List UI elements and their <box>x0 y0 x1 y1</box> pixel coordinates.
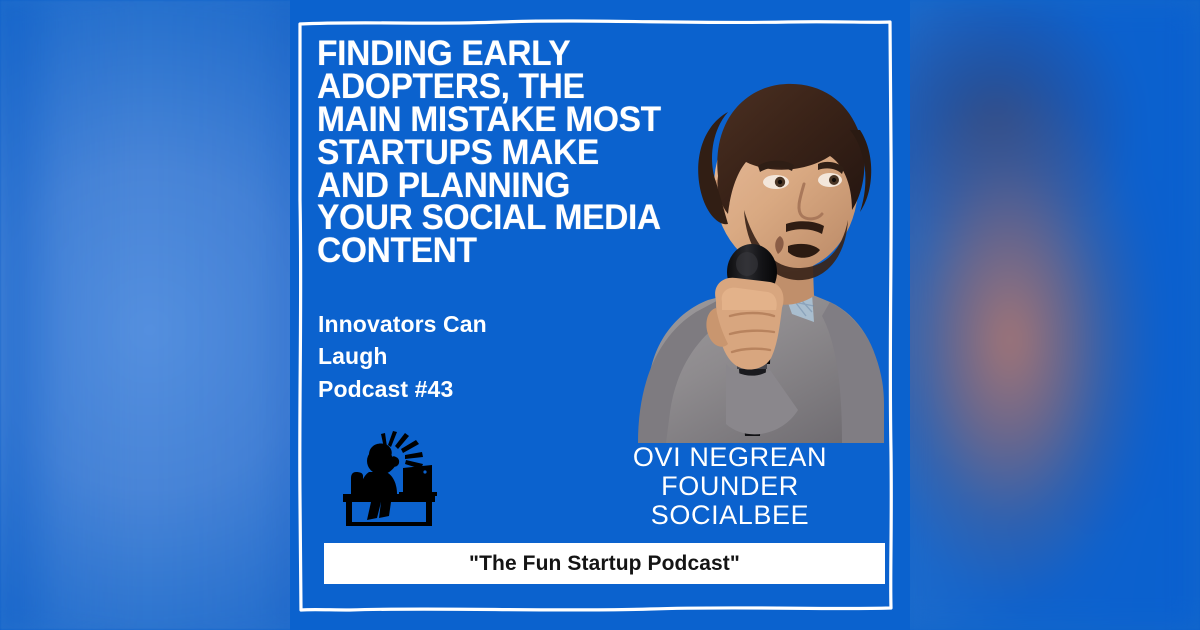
title-line: STARTUPS MAKE <box>317 137 720 170</box>
show-name-line-2: Laugh <box>318 340 568 372</box>
podcast-cover-image: FINDING EARLY ADOPTERS, THE MAIN MISTAKE… <box>0 0 1200 630</box>
show-name-line-1: Innovators Can <box>318 308 568 340</box>
episode-title: FINDING EARLY ADOPTERS, THE MAIN MISTAKE… <box>317 38 720 268</box>
cover-card: FINDING EARLY ADOPTERS, THE MAIN MISTAKE… <box>290 0 910 630</box>
tagline-text: "The Fun Startup Podcast" <box>469 552 740 576</box>
title-line: ADOPTERS, THE <box>317 71 720 104</box>
guest-name: OVI NEGREAN <box>580 443 880 472</box>
guest-company: SOCIALBEE <box>580 501 880 530</box>
guest-credit: OVI NEGREAN FOUNDER SOCIALBEE <box>580 443 880 530</box>
title-line: CONTENT <box>317 235 720 268</box>
blurred-background-left-vignette <box>0 0 300 630</box>
title-line: MAIN MISTAKE MOST <box>317 104 720 137</box>
guest-role: FOUNDER <box>580 472 880 501</box>
blurred-background-right <box>900 0 1200 630</box>
title-line: FINDING EARLY <box>317 38 720 71</box>
person-laughing-at-desk-with-laptop-icon <box>333 428 445 528</box>
episode-number-label: Podcast #43 <box>318 373 568 405</box>
show-info: Innovators Can Laugh Podcast #43 <box>318 308 568 405</box>
tagline-banner: "The Fun Startup Podcast" <box>324 543 885 584</box>
